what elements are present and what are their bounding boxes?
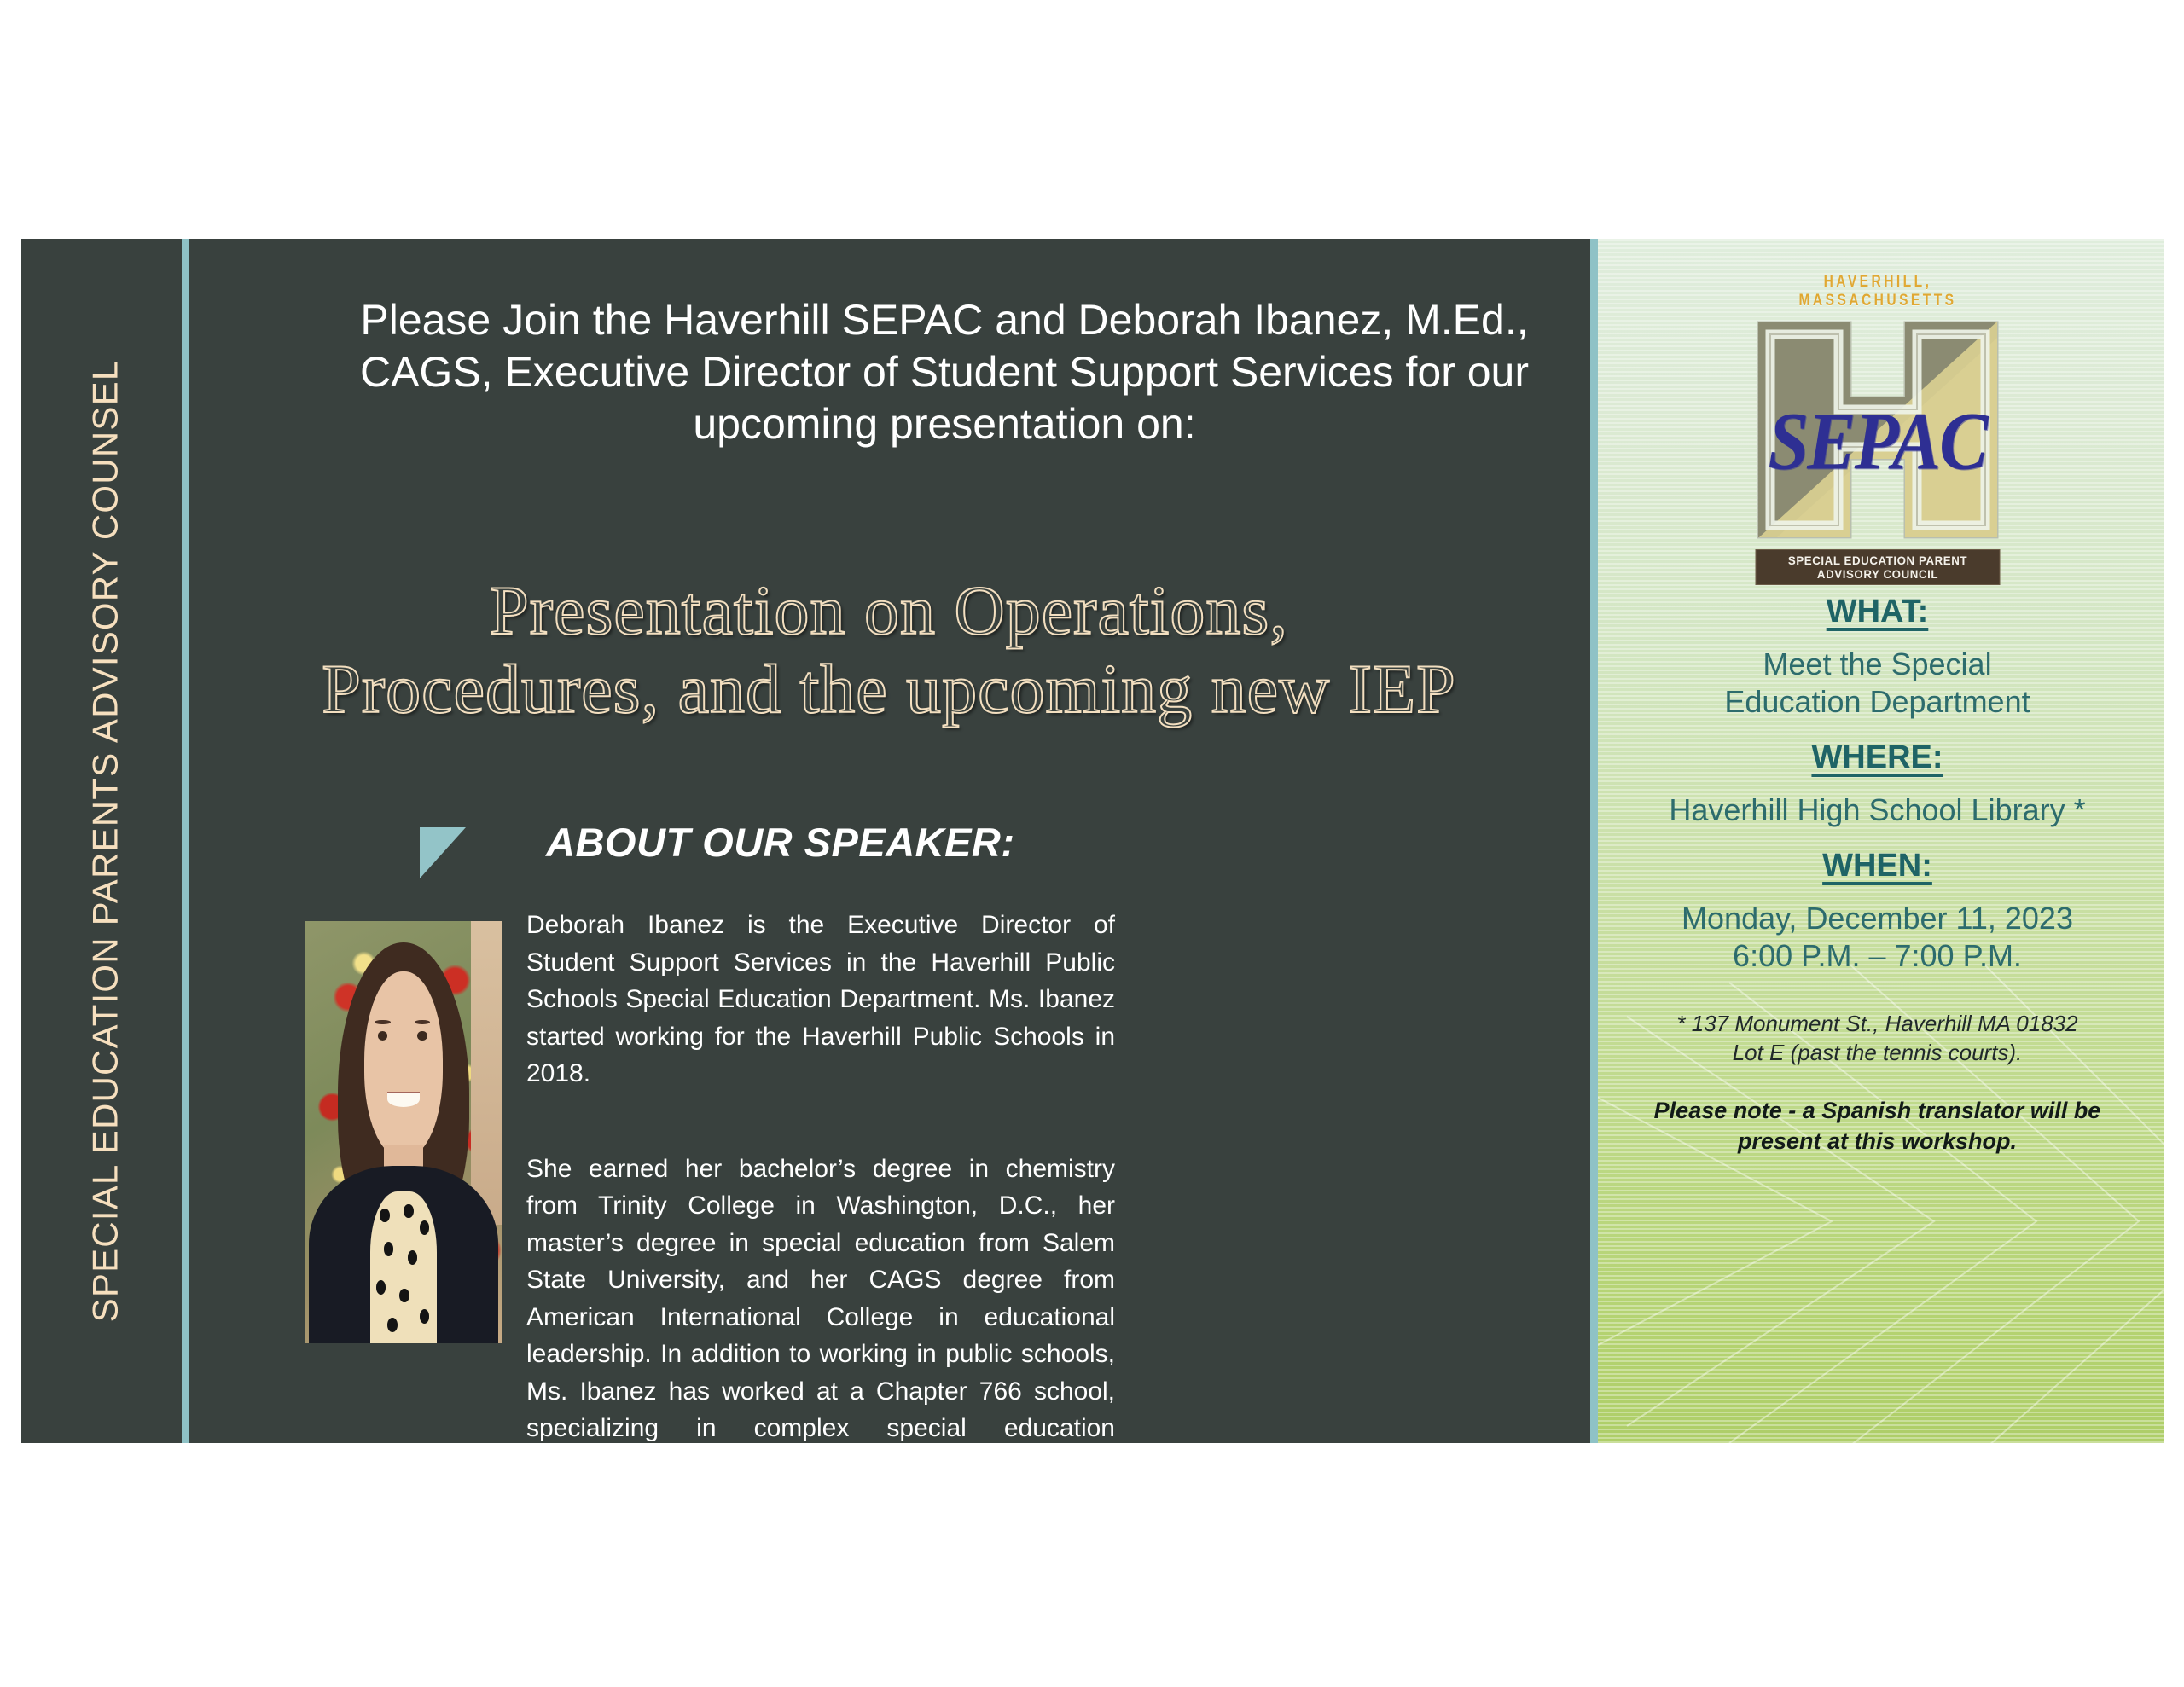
photo-dot <box>380 1209 390 1223</box>
photo-eye-left <box>378 1031 388 1041</box>
what-line-1: Meet the Special <box>1612 646 2142 683</box>
headline-line-2: Procedures, and the upcoming new IEP <box>224 650 1554 728</box>
dark-content: Please Join the Haverhill SEPAC and Debo… <box>189 239 1590 1443</box>
details-content: HAVERHILL, MASSACHUSETTS <box>1590 239 2164 1157</box>
sidebar-divider <box>182 239 189 1443</box>
flyer-canvas: SPECIAL EDUCATION PARENTS ADVISORY COUNS… <box>21 239 2164 1443</box>
where-line-1: Haverhill High School Library * <box>1612 791 2142 829</box>
logo-wordmark: SEPAC <box>1750 400 2006 482</box>
about-speaker-row: ABOUT OUR SPEAKER: <box>420 819 1015 878</box>
presentation-headline: Presentation on Operations, Procedures, … <box>224 571 1554 728</box>
speaker-bio: Deborah Ibanez is the Executive Director… <box>526 907 1115 1443</box>
headline-line-1: Presentation on Operations, <box>224 571 1554 650</box>
where-body: Haverhill High School Library * <box>1612 791 2142 829</box>
where-heading: WHERE: <box>1612 739 2142 776</box>
speaker-photo <box>305 921 502 1343</box>
what-body: Meet the Special Education Department <box>1612 646 2142 721</box>
logo-banner-text: SPECIAL EDUCATION PARENT ADVISORY COUNCI… <box>1755 549 2000 585</box>
triangle-bullet-icon <box>420 827 466 878</box>
address-line-2: Lot E (past the tennis courts). <box>1612 1038 2142 1067</box>
when-line-1: Monday, December 11, 2023 <box>1612 900 2142 937</box>
bio-paragraph-2: She earned her bachelor’s degree in chem… <box>526 1151 1115 1444</box>
when-line-2: 6:00 P.M. – 7:00 P.M. <box>1612 937 2142 975</box>
panel-divider <box>1590 239 1598 1443</box>
photo-dot <box>408 1250 418 1265</box>
photo-dot <box>404 1204 414 1219</box>
address-footnote: * 137 Monument St., Haverhill MA 01832 L… <box>1612 1009 2142 1068</box>
photo-face <box>364 971 444 1157</box>
event-details: WHAT: Meet the Special Education Departm… <box>1590 594 2164 1157</box>
sidebar-organization-label: SPECIAL EDUCATION PARENTS ADVISORY COUNS… <box>85 360 126 1323</box>
notice-line-1: Please note - a Spanish translator will … <box>1612 1096 2142 1127</box>
about-speaker-heading: ABOUT OUR SPEAKER: <box>546 819 1015 866</box>
when-heading: WHEN: <box>1612 848 2142 884</box>
notice-line-2: present at this workshop. <box>1612 1127 2142 1157</box>
photo-eye-right <box>417 1031 427 1041</box>
intro-paragraph: Please Join the Haverhill SEPAC and Debo… <box>339 294 1550 450</box>
translator-notice: Please note - a Spanish translator will … <box>1612 1096 2142 1157</box>
photo-dot <box>376 1280 386 1295</box>
varsity-h-icon: SEPAC <box>1750 314 2006 546</box>
bio-paragraph-1: Deborah Ibanez is the Executive Director… <box>526 907 1115 1093</box>
details-panel: HAVERHILL, MASSACHUSETTS <box>1590 239 2164 1443</box>
photo-wall <box>471 921 502 1225</box>
vertical-sidebar: SPECIAL EDUCATION PARENTS ADVISORY COUNS… <box>21 239 189 1443</box>
dark-panel: SPECIAL EDUCATION PARENTS ADVISORY COUNS… <box>21 239 1590 1443</box>
what-heading: WHAT: <box>1612 594 2142 630</box>
when-body: Monday, December 11, 2023 6:00 P.M. – 7:… <box>1612 900 2142 975</box>
logo-location-text: HAVERHILL, MASSACHUSETTS <box>1765 273 1989 310</box>
address-line-1: * 137 Monument St., Haverhill MA 01832 <box>1612 1009 2142 1038</box>
what-line-2: Education Department <box>1612 683 2142 721</box>
sepac-logo: HAVERHILL, MASSACHUSETTS <box>1741 273 2014 571</box>
